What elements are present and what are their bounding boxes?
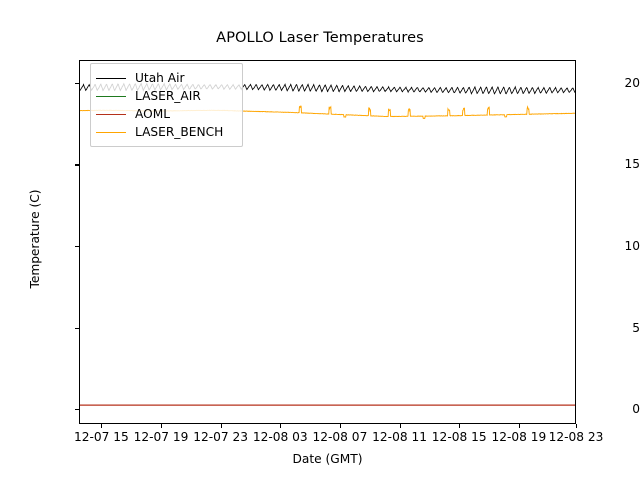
legend-item-label: LASER_BENCH [135, 126, 223, 138]
x-tick-label: 12-08 07 [313, 430, 368, 444]
x-tick-mark [280, 424, 281, 428]
x-tick-label: 12-07 15 [74, 430, 129, 444]
x-tick-label: 12-07 19 [134, 430, 189, 444]
x-tick-mark [519, 424, 520, 428]
legend-item-label: LASER_AIR [135, 90, 201, 102]
legend-item-label: AOML [135, 108, 170, 120]
y-axis-label: Temperature (C) [28, 74, 42, 404]
legend-color-swatch [96, 78, 126, 79]
figure-canvas: APOLLO Laser Temperatures Temperature (C… [0, 0, 640, 480]
legend-item-laser-air[interactable]: LASER_AIR [96, 87, 236, 105]
y-tick-label: 5 [596, 321, 640, 335]
x-tick-label: 12-08 23 [549, 430, 604, 444]
x-tick-label: 12-08 11 [372, 430, 427, 444]
legend-color-swatch [96, 96, 126, 97]
x-tick-mark [340, 424, 341, 428]
x-tick-mark [400, 424, 401, 428]
y-tick-label: 0 [596, 402, 640, 416]
y-tick-label: 15 [596, 157, 640, 171]
x-tick-mark [101, 424, 102, 428]
x-tick-label: 12-08 15 [432, 430, 487, 444]
y-tick-label: 20 [596, 76, 640, 90]
x-tick-mark [459, 424, 460, 428]
x-axis-label: Date (GMT) [79, 452, 576, 466]
chart-legend[interactable]: Utah AirLASER_AIRAOMLLASER_BENCH [90, 63, 243, 147]
x-tick-label: 12-08 19 [491, 430, 546, 444]
x-tick-mark [161, 424, 162, 428]
legend-item-utah-air[interactable]: Utah Air [96, 69, 236, 87]
legend-item-laser-bench[interactable]: LASER_BENCH [96, 123, 236, 141]
legend-item-label: Utah Air [135, 72, 185, 84]
y-tick-label: 10 [596, 239, 640, 253]
legend-color-swatch [96, 132, 126, 133]
legend-color-swatch [96, 114, 126, 115]
x-tick-label: 12-08 03 [253, 430, 308, 444]
chart-title: APOLLO Laser Temperatures [0, 30, 640, 46]
legend-item-aoml[interactable]: AOML [96, 105, 236, 123]
x-tick-mark [576, 424, 577, 428]
x-tick-label: 12-07 23 [193, 430, 248, 444]
x-tick-mark [221, 424, 222, 428]
